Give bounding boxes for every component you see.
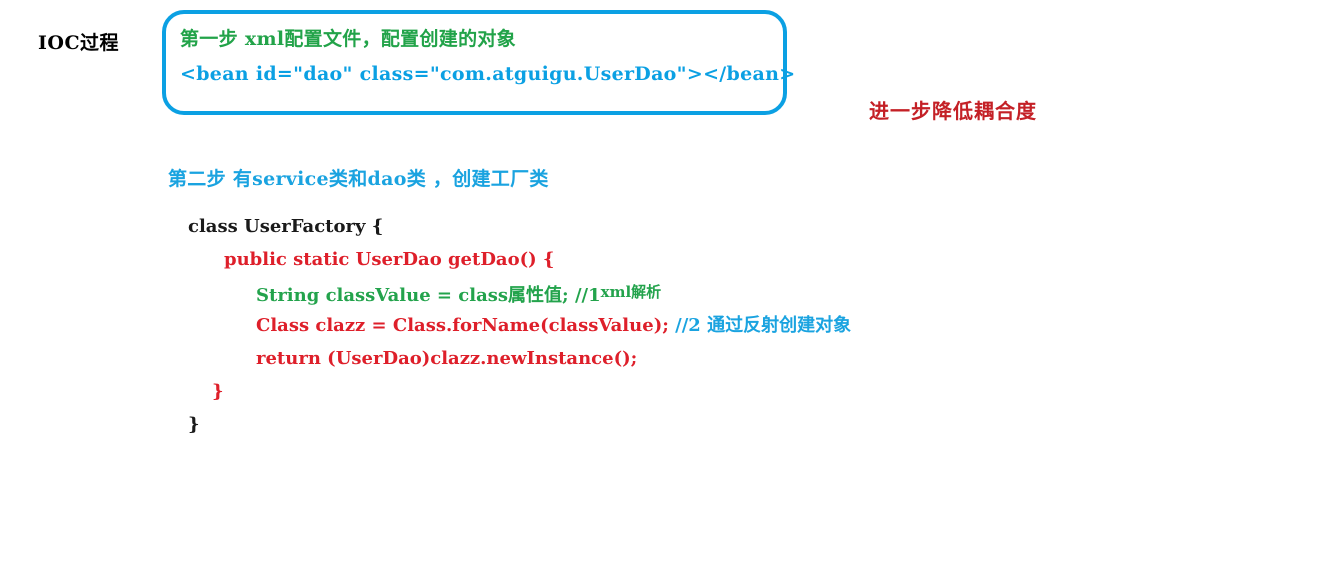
step1-heading: 第一步 xml配置文件，配置创建的对象 (180, 24, 516, 51)
step1-xml-snippet: <bean id="dao" class="com.atguigu.UserDa… (180, 63, 795, 85)
decouple-annotation: 进一步降低耦合度 (869, 95, 1037, 124)
ioc-process-label: IOC过程 (38, 28, 119, 55)
code-line-inner-close-brace: } (188, 375, 1088, 408)
code-line-method-decl: public static UserDao getDao() { (188, 243, 1088, 276)
code-stmt-class-value: String classValue = class属性值; (256, 285, 569, 306)
code-line-outer-close-brace: } (188, 408, 1088, 441)
factory-code-block: class UserFactory { public static UserDa… (188, 210, 1088, 441)
code-comment-2-text: //2 通过反射创建对象 (675, 315, 851, 336)
code-stmt-forname: Class clazz = Class.forName(classValue); (256, 315, 669, 336)
code-comment-1-text: xml解析 (601, 283, 662, 301)
code-line-class-value: String classValue = class属性值; //1xml解析 (188, 276, 1088, 309)
code-comment-1-number: //1 (575, 285, 601, 306)
code-line-class-decl: class UserFactory { (188, 210, 1088, 243)
step2-heading: 第二步 有service类和dao类 ，创建工厂类 (168, 164, 549, 191)
code-line-return: return (UserDao)clazz.newInstance(); (188, 342, 1088, 375)
code-line-forname: Class clazz = Class.forName(classValue);… (188, 309, 1088, 342)
diagram-canvas: IOC过程 第一步 xml配置文件，配置创建的对象 <bean id="dao"… (0, 0, 1339, 587)
